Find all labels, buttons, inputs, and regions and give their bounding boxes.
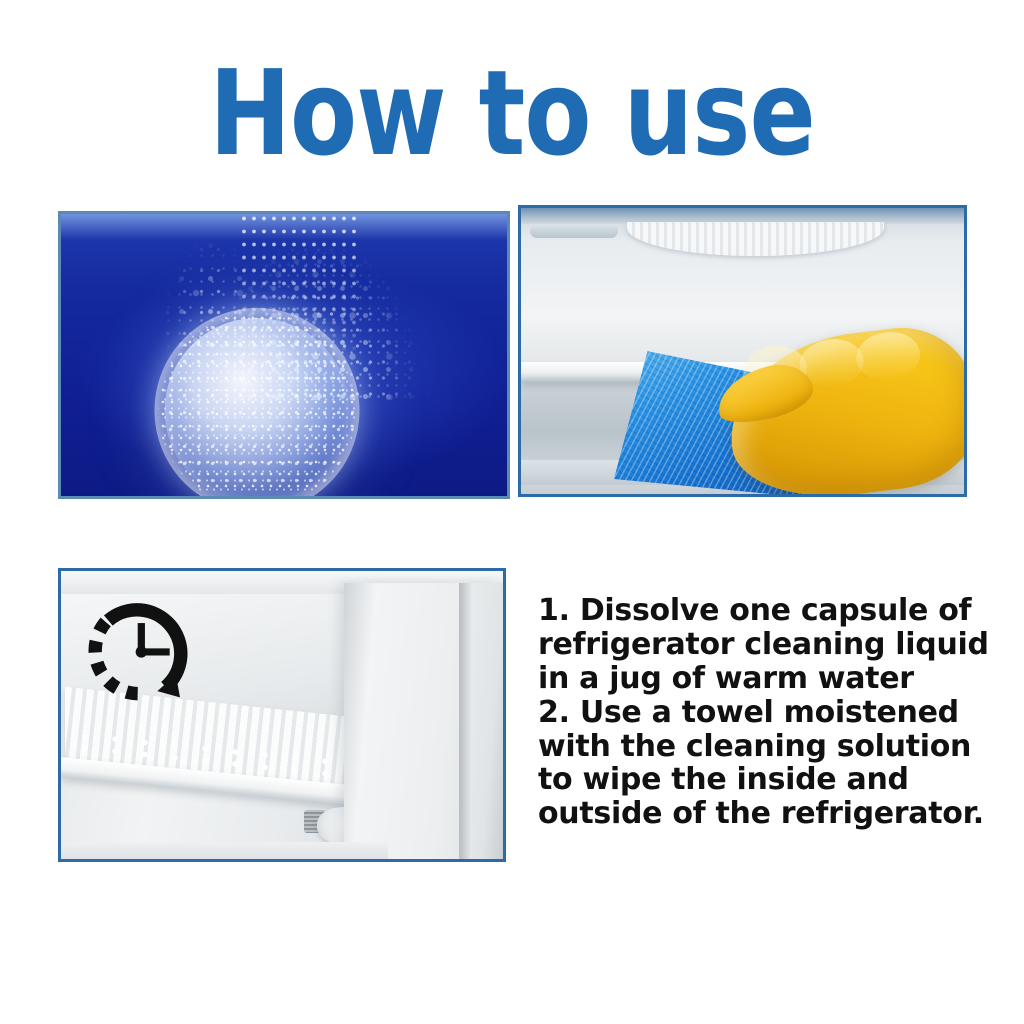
fridge-shelf-handle [530,224,619,238]
fridge-door-panel [344,583,503,859]
panel-1-image [61,214,507,496]
fridge-bottom-shelf [61,842,388,859]
fridge-door-edge [459,583,472,859]
page-title: How to use [41,54,983,172]
how-to-use-infographic: { "header": { "title": "How to use", "ti… [0,0,1024,1024]
panel-2-image [521,208,964,494]
panel-3-image [61,571,503,859]
instruction-step-2: 2. Use a towel moistened with the cleani… [538,696,998,832]
panel-fridge-wait [58,568,506,862]
instruction-step-1: 1. Dissolve one capsule of refrigerator … [538,594,998,696]
panel-tablet-dissolving [58,211,510,499]
instructions-block: 1. Dissolve one capsule of refrigerator … [538,594,998,831]
glove-knuckle [854,329,924,385]
clock-arrow-icon [81,588,205,712]
panel-glove-wiping [518,205,967,497]
effervescent-tablet [165,318,350,496]
